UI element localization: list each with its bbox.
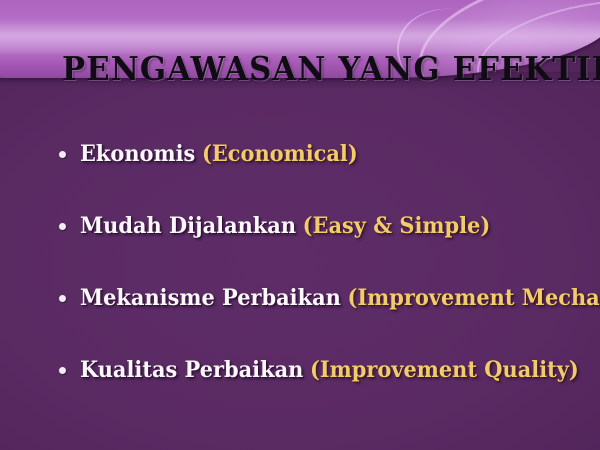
- bullet-point-icon: [59, 367, 66, 374]
- bullet-term: Ekonomis: [80, 141, 195, 167]
- bullet-gloss: (Improvement Quality): [310, 357, 579, 383]
- bullet-point-icon: [59, 151, 66, 158]
- presentation-slide: PENGAWASAN YANG EFEKTIF Ekonomis(Economi…: [0, 0, 600, 450]
- bullet-gloss: (Economical): [202, 141, 358, 167]
- bullet-point-icon: [59, 295, 66, 302]
- bullet-term: Mudah Dijalankan: [80, 213, 296, 239]
- bullet-text: Ekonomis(Economical): [80, 143, 358, 165]
- bullet-text: Kualitas Perbaikan(Improvement Quality): [80, 359, 579, 381]
- bullet-list: Ekonomis(Economical) Mudah Dijalankan(Ea…: [0, 118, 600, 406]
- list-item: Ekonomis(Economical): [0, 118, 600, 190]
- bullet-gloss: (Improvement Mechanism): [347, 285, 600, 311]
- bullet-gloss: (Easy & Simple): [303, 213, 491, 239]
- bullet-term: Kualitas Perbaikan: [80, 357, 303, 383]
- bullet-text: Mekanisme Perbaikan(Improvement Mechanis…: [80, 287, 600, 309]
- bullet-point-icon: [59, 223, 66, 230]
- bullet-term: Mekanisme Perbaikan: [80, 285, 341, 311]
- bullet-text: Mudah Dijalankan(Easy & Simple): [80, 215, 490, 237]
- list-item: Kualitas Perbaikan(Improvement Quality): [0, 334, 600, 406]
- slide-title: PENGAWASAN YANG EFEKTIF: [62, 52, 600, 85]
- slide-header-banner: PENGAWASAN YANG EFEKTIF: [0, 0, 600, 88]
- list-item: Mekanisme Perbaikan(Improvement Mechanis…: [0, 262, 600, 334]
- list-item: Mudah Dijalankan(Easy & Simple): [0, 190, 600, 262]
